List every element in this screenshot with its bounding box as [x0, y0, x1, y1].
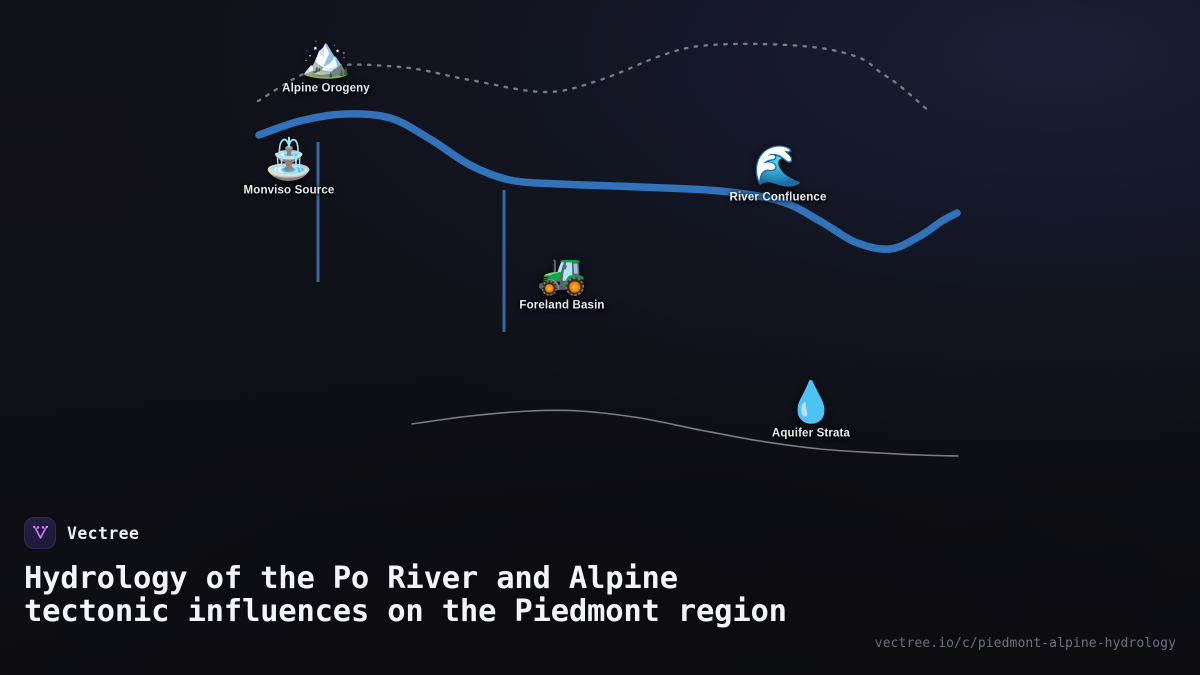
- fountain-icon: ⛲: [264, 140, 314, 180]
- page-title: Hydrology of the Po River and Alpine tec…: [24, 563, 824, 628]
- node-label: Foreland Basin: [519, 300, 604, 312]
- node-label: Aquifer Strata: [772, 428, 850, 440]
- series-path: [259, 114, 957, 249]
- document-url: vectree.io/c/piedmont-alpine-hydrology: [875, 636, 1176, 651]
- node-label: River Confluence: [730, 192, 827, 204]
- node-label: Monviso Source: [244, 185, 335, 197]
- node-label: Alpine Orogeny: [282, 83, 370, 95]
- series-path: [412, 410, 958, 456]
- snow-mountain-icon: 🏔️: [301, 38, 351, 78]
- graph-node-river-confluence[interactable]: 🌊River Confluence: [730, 147, 827, 204]
- graph-node-foreland-basin[interactable]: 🚜Foreland Basin: [519, 255, 604, 312]
- graph-node-monviso-source[interactable]: ⛲Monviso Source: [244, 140, 335, 197]
- footer-bar: Vectree Hydrology of the Po River and Al…: [0, 493, 1200, 675]
- screenshot-root: 🏔️Alpine Orogeny⛲Monviso Source🌊River Co…: [0, 0, 1200, 675]
- brand-row[interactable]: Vectree: [24, 517, 1176, 549]
- droplet-icon: 💧: [786, 383, 836, 423]
- graph-node-alpine-orogeny[interactable]: 🏔️Alpine Orogeny: [282, 38, 370, 95]
- vectree-v-logo-icon: [24, 517, 56, 549]
- brand-name: Vectree: [67, 524, 139, 543]
- graph-node-aquifer-strata[interactable]: 💧Aquifer Strata: [772, 383, 850, 440]
- wave-icon: 🌊: [753, 147, 803, 187]
- tractor-icon: 🚜: [537, 255, 587, 295]
